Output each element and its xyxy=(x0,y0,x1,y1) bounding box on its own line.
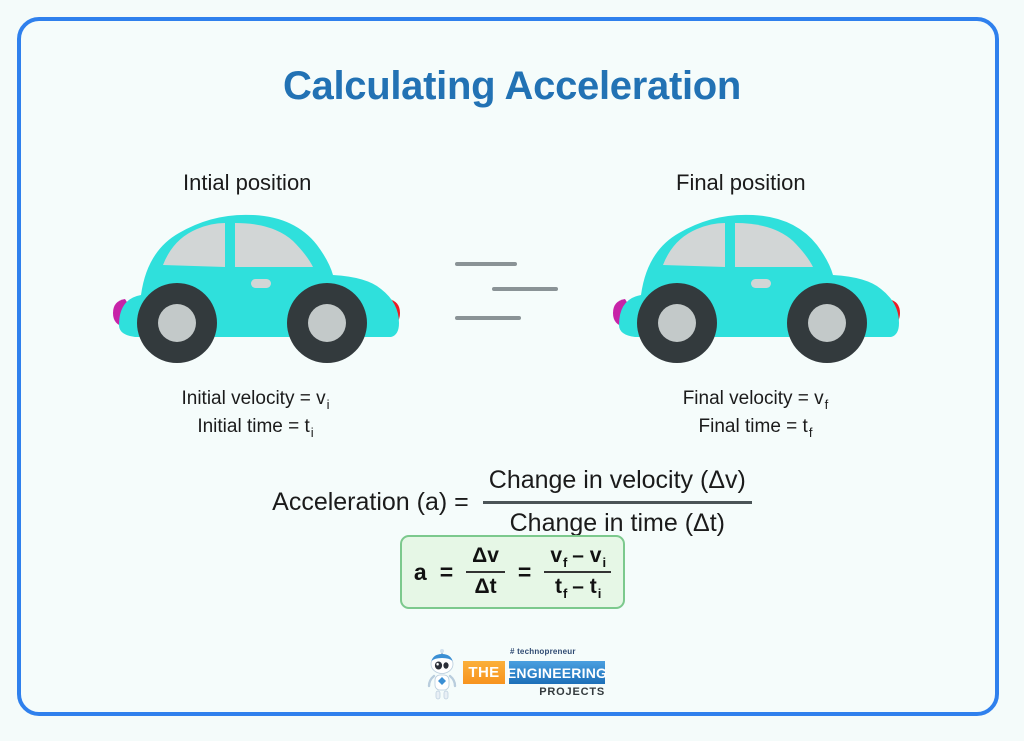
equation-equals-1: = xyxy=(440,559,453,586)
equation-highlight-box: a = Δv Δt = vf – vi tf – ti xyxy=(400,535,625,609)
equation-delta-fraction: Δv Δt xyxy=(466,544,505,600)
motion-lines-icon xyxy=(455,262,570,324)
equation-expanded-numerator: vf – vi xyxy=(544,544,611,569)
car-side-icon-initial xyxy=(105,207,405,367)
logo-the-badge: THE xyxy=(463,661,505,684)
logo-engineering-badge: ENGINEERING xyxy=(509,661,605,684)
final-velocity-label: Final velocity = vf xyxy=(600,385,910,413)
slide-canvas: Calculating Acceleration Intial position… xyxy=(0,0,1024,741)
acceleration-formula-numerator: Change in velocity (Δv) xyxy=(483,466,752,496)
acceleration-formula-fraction: Change in velocity (Δv) Change in time (… xyxy=(483,466,752,538)
initial-variables: Initial velocity = vi Initial time = ti xyxy=(100,385,410,441)
initial-velocity-label: Initial velocity = vi xyxy=(100,385,410,413)
final-position-caption: Final position xyxy=(676,170,806,196)
motion-line xyxy=(455,316,521,320)
final-time-label: Final time = tf xyxy=(600,413,910,441)
equation-delta-v: Δv xyxy=(466,544,505,569)
initial-time-label: Initial time = ti xyxy=(100,413,410,441)
equation-expanded-denominator: tf – ti xyxy=(549,575,606,600)
acceleration-formula: Acceleration (a) = Change in velocity (Δ… xyxy=(0,466,1024,538)
car-side-icon-final xyxy=(605,207,905,367)
equation-delta-t: Δt xyxy=(468,575,502,600)
initial-position-caption: Intial position xyxy=(183,170,311,196)
equation-a-symbol: a xyxy=(414,559,427,586)
page-title: Calculating Acceleration xyxy=(0,64,1024,109)
final-variables: Final velocity = vf Final time = tf xyxy=(600,385,910,441)
robot-mascot-icon xyxy=(425,649,459,701)
acceleration-formula-denominator: Change in time (Δt) xyxy=(504,509,731,539)
fraction-bar xyxy=(466,571,505,573)
equation-equals-2: = xyxy=(518,559,531,586)
logo-projects-text: PROJECTS xyxy=(509,686,605,698)
acceleration-formula-lhs: Acceleration (a) = xyxy=(272,488,469,517)
equation-expanded-fraction: vf – vi tf – ti xyxy=(544,544,611,600)
logo-tagline: # technopreneur xyxy=(510,647,576,656)
motion-line xyxy=(455,262,517,266)
fraction-bar xyxy=(544,571,611,573)
motion-line xyxy=(492,287,558,291)
site-logo[interactable]: # technopreneur THE ENGINEERING PROJECTS xyxy=(425,647,605,703)
fraction-bar xyxy=(483,501,752,504)
